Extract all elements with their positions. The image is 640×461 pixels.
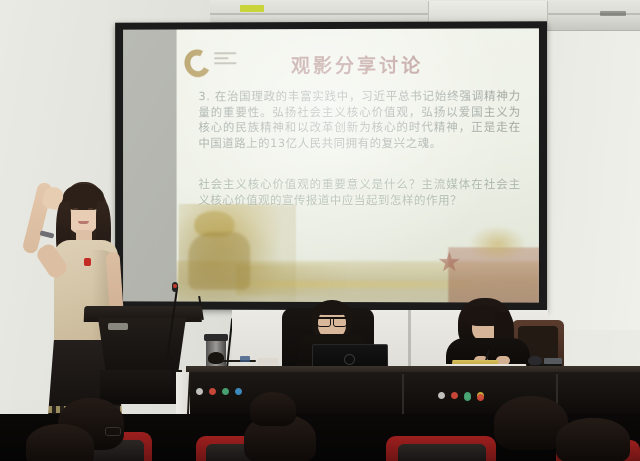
- screen-surface: 观影分享讨论 3. 在治国理政的丰富实践中，习近平总书记始终强调精神力量的重要性…: [123, 28, 539, 302]
- led-red-3: [477, 394, 484, 401]
- desk-led-group-left: [196, 388, 242, 395]
- presenter-eye-right: [88, 208, 93, 210]
- microphone-indicator-light: [173, 284, 177, 288]
- led-green: [222, 388, 229, 395]
- audience-head-2: [26, 424, 94, 461]
- wristwatch: [40, 230, 55, 238]
- projected-slide: 观影分享讨论 3. 在治国理政的丰富实践中，习近平总书记始终强调精神力量的重要性…: [177, 28, 539, 302]
- person1-bangs: [314, 302, 350, 315]
- wall-panel-right: [536, 0, 640, 330]
- valance-sticker-label: [240, 5, 264, 12]
- valance-brand-logo: [600, 11, 626, 16]
- led-white-2: [438, 392, 445, 399]
- audience-glasses-icon: [105, 427, 121, 436]
- slide-body-text: 3. 在治国理政的丰富实践中，习近平总书记始终强调精神力量的重要性。弘扬社会主义…: [198, 89, 520, 151]
- wall-seam: [408, 310, 411, 366]
- desk-item-grey: [544, 358, 562, 364]
- slide-art-right-figure: [468, 225, 526, 259]
- desk-item-cable: [222, 360, 256, 362]
- projection-screen: 观影分享讨论 3. 在治国理政的丰富实践中，习近平总书记始终强调精神力量的重要性…: [115, 21, 547, 310]
- podium-body: [92, 318, 192, 374]
- water-bottle-cap: [204, 334, 228, 341]
- slide-question-text: 社会主义核心价值观的重要意义是什么？主流媒体在社会主义核心价值观的宣传报道中应当…: [198, 177, 520, 208]
- screenshot-scene: 观影分享讨论 3. 在治国理政的丰富实践中，习近平总书记始终强调精神力量的重要性…: [0, 0, 640, 461]
- seated-person-with-laptop: [286, 300, 396, 376]
- desk-panel-divider-1: [402, 374, 404, 414]
- valance-seam: [210, 13, 640, 15]
- laptop-logo-icon: [344, 354, 355, 365]
- led-blue: [235, 388, 242, 395]
- red-badge-pin: [84, 258, 91, 266]
- audience-head-5: [556, 418, 630, 461]
- audience-head-3b: [250, 392, 296, 426]
- podium-name-plate: [108, 323, 128, 330]
- desk-item-blue: [240, 356, 250, 362]
- computer-mouse: [528, 356, 542, 365]
- led-red-2: [451, 392, 458, 399]
- led-white: [196, 388, 203, 395]
- desk-led-group-right: [464, 394, 484, 401]
- led-green-3: [464, 394, 471, 401]
- slide-title: 观影分享讨论: [177, 50, 539, 78]
- desk-item-paper: [258, 358, 278, 365]
- glasses-lens-right: [333, 317, 347, 327]
- desk-item-round: [208, 352, 224, 364]
- presenter-mouth: [78, 221, 89, 224]
- audience-chair-3-back: [398, 444, 486, 461]
- glasses-lens-left: [317, 317, 331, 327]
- led-red: [209, 388, 216, 395]
- podium-base: [100, 370, 182, 404]
- presenter-eye-left: [73, 208, 78, 210]
- slide-art-soldier-body: [188, 232, 250, 290]
